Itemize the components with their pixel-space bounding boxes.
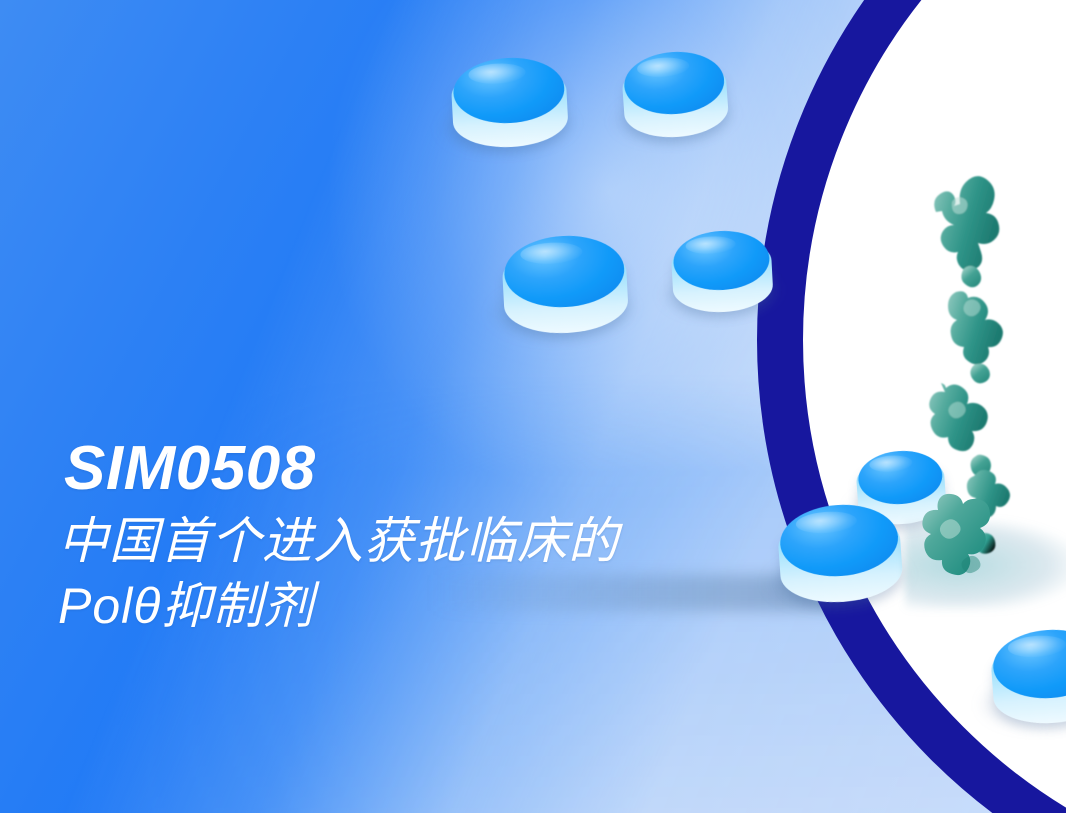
tablet-gloss <box>1007 634 1066 658</box>
tablet-4 <box>670 228 774 313</box>
product-code: SIM0508 <box>64 437 848 500</box>
tablet-gloss <box>637 56 690 78</box>
subtitle: 中国首个进入获批临床的 Polθ抑制剂 <box>58 509 848 639</box>
tablet-7 <box>989 626 1066 726</box>
tablet-gloss <box>686 235 737 255</box>
tablet-1 <box>450 55 569 149</box>
tablet-3 <box>501 233 630 335</box>
subtitle-line-1: 中国首个进入获批临床的 <box>58 509 848 574</box>
headline-block: SIM0508 中国首个进入获批临床的 Polθ抑制剂 <box>58 437 848 639</box>
tablet-gloss <box>468 62 526 85</box>
subtitle-line-2: Polθ抑制剂 <box>58 574 848 639</box>
tablet-2 <box>620 48 730 139</box>
tablet-gloss <box>868 454 913 473</box>
banner-canvas: SIM0508 中国首个进入获批临床的 Polθ抑制剂 <box>0 0 1066 813</box>
tablet-gloss <box>520 241 583 266</box>
